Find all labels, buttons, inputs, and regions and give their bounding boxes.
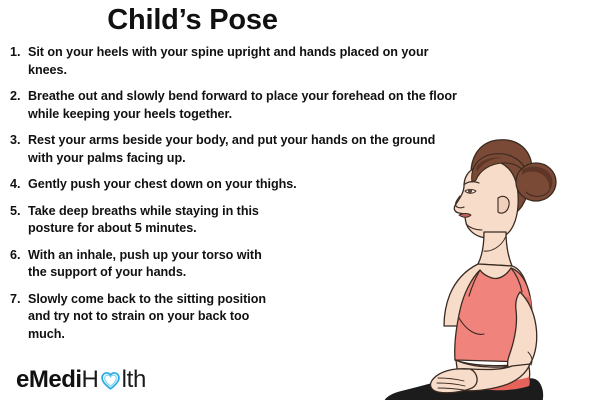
list-item-number: 4. <box>10 176 28 194</box>
woman-kneeling-yoga-pose-illustration <box>380 120 600 400</box>
list-item-number: 3. <box>10 132 28 150</box>
brand-logo: eMedi H lth <box>16 367 146 393</box>
page-title: Child’s Pose <box>0 2 385 38</box>
list-item-text: Breathe out and slowly bend forward to p… <box>28 88 458 123</box>
list-item-number: 7. <box>10 291 28 309</box>
logo-light-prefix: H <box>82 367 99 393</box>
list-item-number: 6. <box>10 247 28 265</box>
list-item-text: Sit on your heels with your spine uprigh… <box>28 44 458 79</box>
list-item-number: 2. <box>10 88 28 106</box>
heart-icon <box>99 370 122 392</box>
list-item: 1. Sit on your heels with your spine upr… <box>10 44 588 79</box>
list-item: 2. Breathe out and slowly bend forward t… <box>10 88 588 123</box>
logo-bold-text: eMedi <box>16 367 82 393</box>
list-item-number: 5. <box>10 203 28 221</box>
logo-light-suffix: lth <box>122 367 146 393</box>
list-item-number: 1. <box>10 44 28 62</box>
list-item-text: With an inhale, push up your torso with … <box>28 247 278 282</box>
list-item-text: Take deep breaths while staying in this … <box>28 203 278 238</box>
infographic-page: Child’s Pose 1. Sit on your heels with y… <box>0 0 600 400</box>
list-item-text: Slowly come back to the sitting position… <box>28 291 278 344</box>
